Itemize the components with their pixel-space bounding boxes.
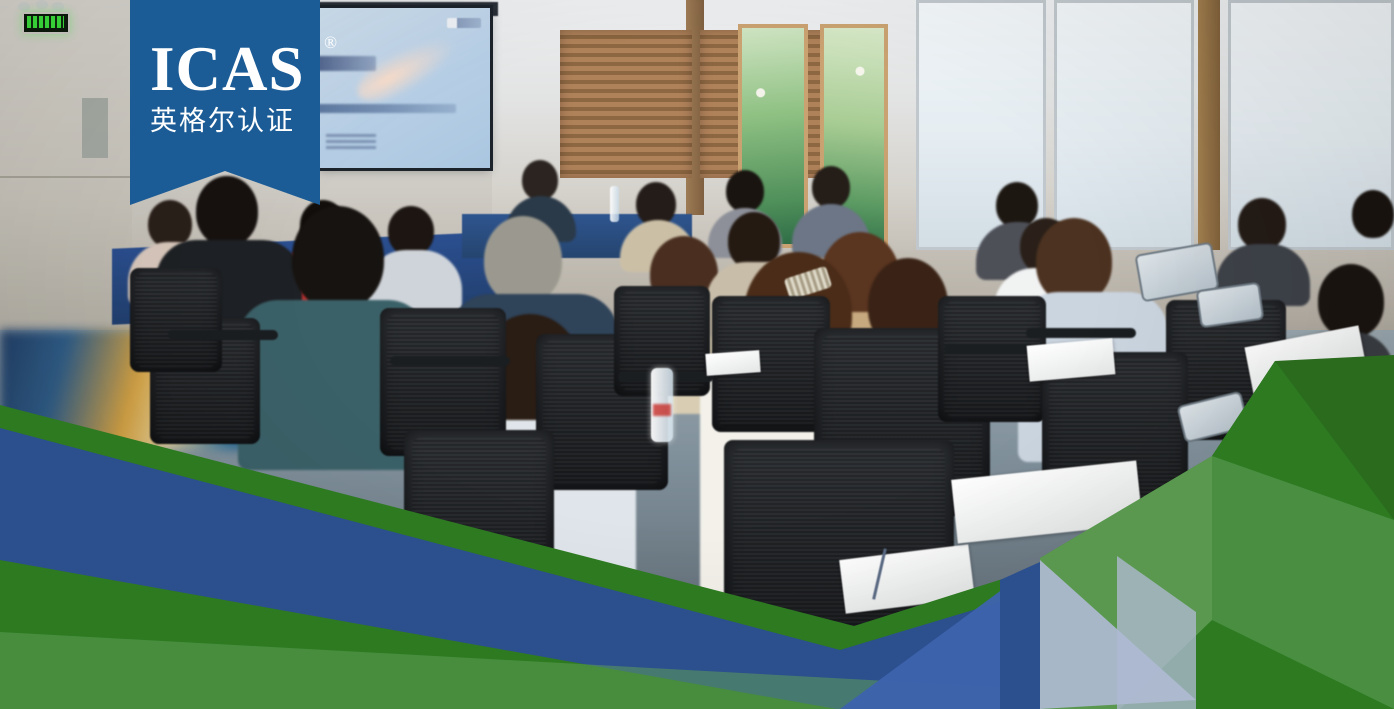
logo-block-shape bbox=[130, 0, 320, 205]
banner-canvas: ICAS® 英格尔认证 bbox=[0, 0, 1394, 709]
blue-strip bbox=[1000, 562, 1040, 709]
brand-graphics-overlay bbox=[0, 0, 1394, 709]
